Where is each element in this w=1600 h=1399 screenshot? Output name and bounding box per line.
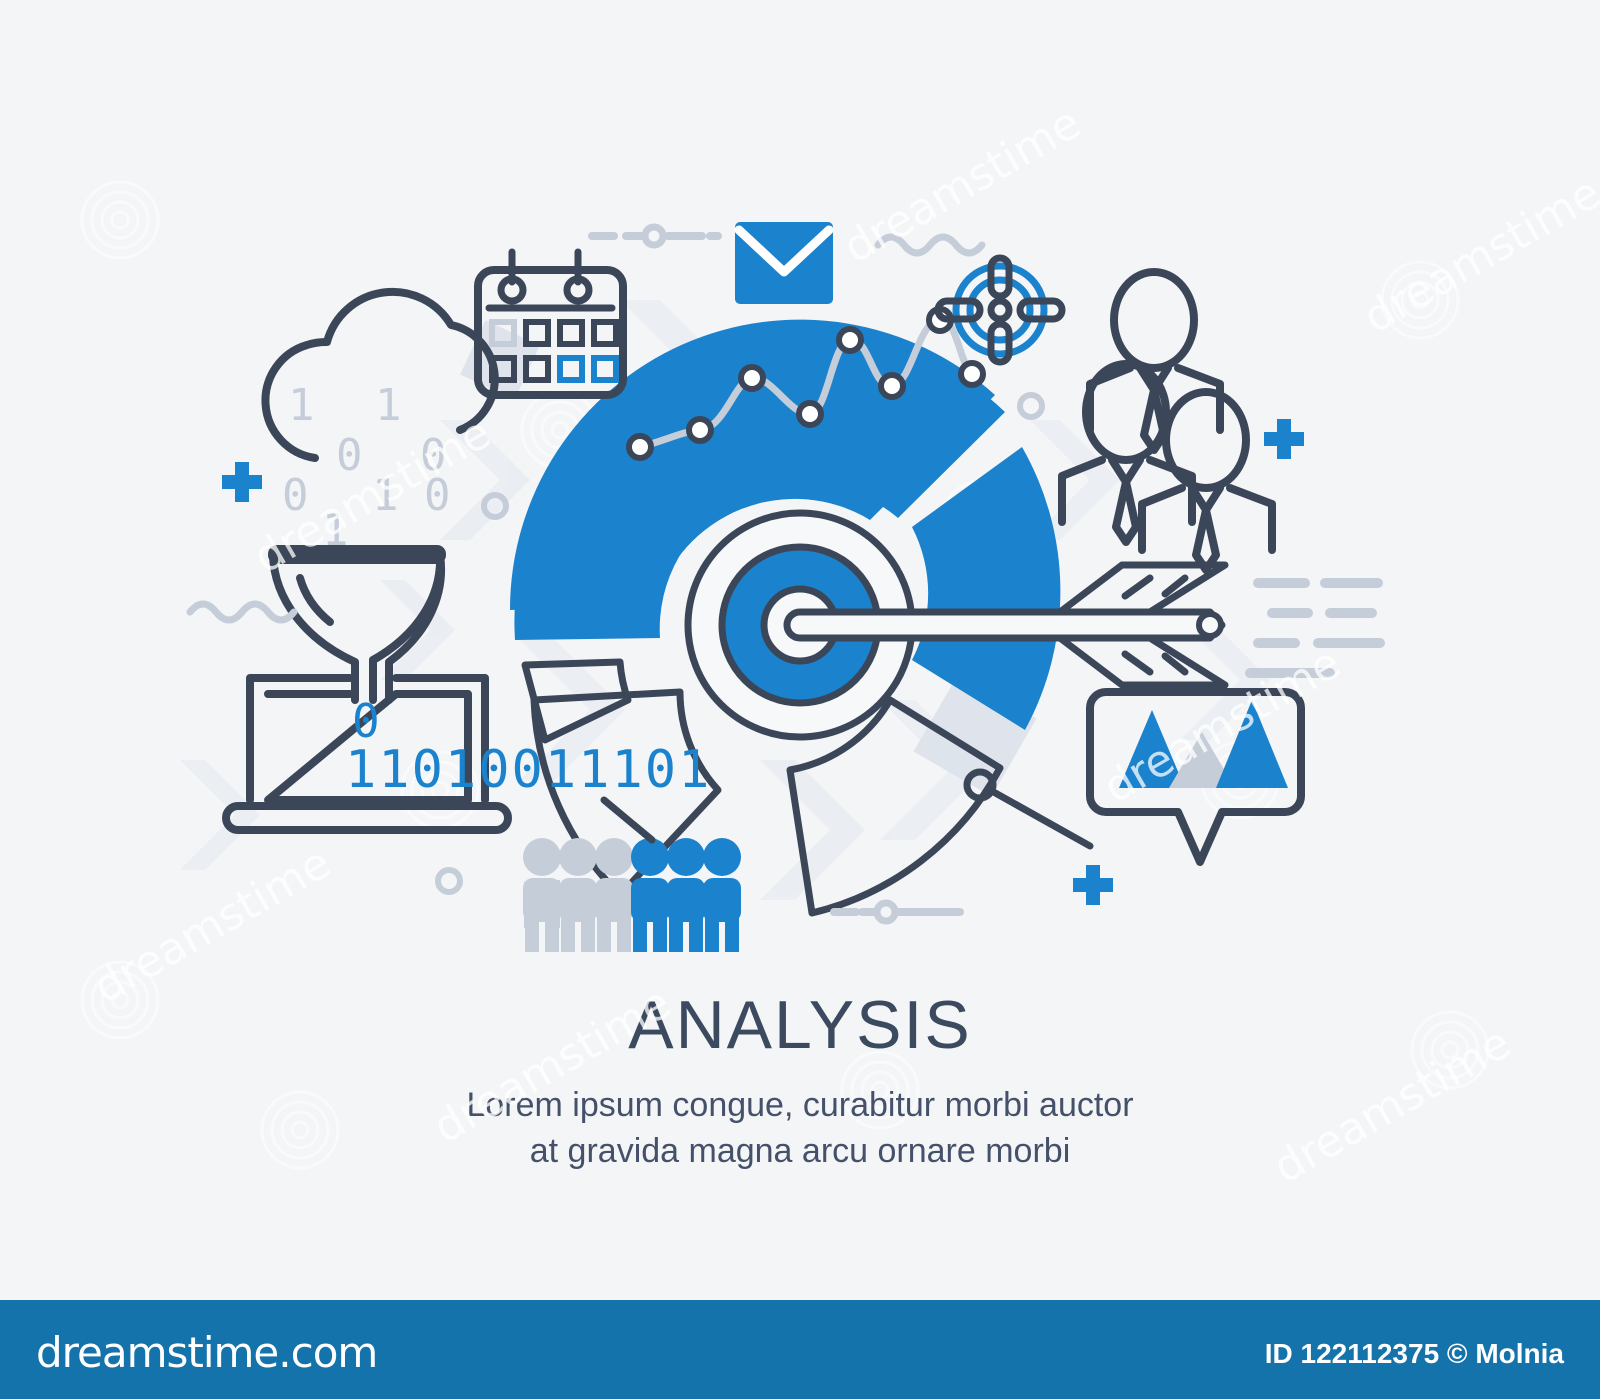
svg-text:0: 0 xyxy=(336,430,363,481)
subtitle-line-1: Lorem ipsum congue, curabitur morbi auct… xyxy=(0,1083,1600,1129)
dreamstime-logo[interactable]: dreamstime.com xyxy=(36,1328,377,1377)
calendar-icon[interactable] xyxy=(478,252,623,395)
decoration-dashed-rail-bottom xyxy=(834,903,960,921)
cloud-icon[interactable] xyxy=(265,292,494,458)
people-pointer-line xyxy=(604,800,652,840)
laptop-binary-main: 11010011101 xyxy=(345,740,711,800)
arrow-shaft xyxy=(787,612,1222,638)
people-figure xyxy=(523,838,561,952)
heading-block: ANALYSIS Lorem ipsum congue, curabitur m… xyxy=(0,990,1600,1175)
subtitle-line-2: at gravida magna arcu ornare morbi xyxy=(0,1129,1600,1175)
arrow-motion-lines xyxy=(1250,583,1380,673)
team-people-icon[interactable] xyxy=(1062,272,1272,570)
bubble-triangle-3 xyxy=(1216,700,1288,788)
illustration-stage: 1 1 0 0 0 1 0 1 xyxy=(0,0,1600,1399)
arrow-nock xyxy=(1199,614,1221,636)
page-subtitle: Lorem ipsum congue, curabitur morbi auct… xyxy=(0,1083,1600,1175)
team-tie-right xyxy=(1192,488,1220,570)
funnel-rim xyxy=(268,545,446,564)
team-head-right xyxy=(1166,392,1246,488)
bubble-connector xyxy=(990,790,1090,846)
speech-bubble-bars xyxy=(1119,700,1288,788)
arrow-fletching-upper xyxy=(1060,565,1225,612)
team-tie-left xyxy=(1112,460,1140,542)
donut-segment-b[interactable] xyxy=(912,447,1060,730)
svg-text:1: 1 xyxy=(288,380,315,431)
arrow-fletching-lower xyxy=(1060,638,1225,685)
bubble-triangle-1 xyxy=(1119,710,1185,788)
cloud-binary-digits: 1 1 0 0 0 1 0 1 xyxy=(282,380,451,556)
svg-text:1: 1 xyxy=(375,380,402,431)
artboard: 1 1 0 0 0 1 0 1 xyxy=(0,0,1600,1300)
calendar-cells xyxy=(492,322,616,380)
people-figure xyxy=(667,838,705,952)
people-figure xyxy=(595,838,633,952)
image-id-label: ID 122112375 © Molnia xyxy=(1265,1338,1564,1370)
svg-text:0: 0 xyxy=(282,470,309,521)
svg-text:1: 1 xyxy=(372,470,399,521)
people-figure xyxy=(703,838,741,952)
laptop-base xyxy=(226,806,508,830)
page-title: ANALYSIS xyxy=(0,990,1600,1061)
calendar-rings xyxy=(501,252,589,301)
people-figure xyxy=(631,838,669,952)
people-figure xyxy=(559,838,597,952)
team-head-left xyxy=(1086,364,1166,460)
svg-text:0: 0 xyxy=(424,470,451,521)
crosshair-center-dot xyxy=(991,301,1009,319)
funnel-inner-arc xyxy=(300,578,330,622)
footer-bar: dreamstime.com ID 122112375 © Molnia xyxy=(0,1300,1600,1399)
decoration-dashed-rail-top xyxy=(592,227,718,245)
envelope-icon[interactable] xyxy=(735,222,833,304)
people-row-icon[interactable] xyxy=(523,800,741,952)
team-head-back xyxy=(1114,272,1194,368)
cloud-shape xyxy=(265,292,494,458)
